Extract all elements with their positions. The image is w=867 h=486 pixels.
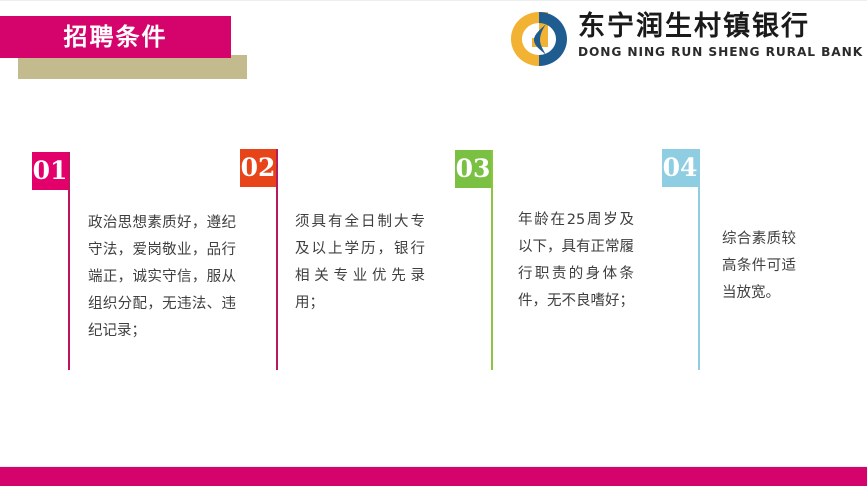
- condition-number-3: 03: [455, 150, 491, 188]
- bank-logo-mark: [508, 10, 570, 68]
- condition-text-2: 须具有全日制大专及以上学历，银行相关专业优先录用；: [295, 209, 425, 317]
- bank-logo-text: 东宁润生村镇银行 DONG NING RUN SHENG RURAL BANK: [578, 10, 828, 60]
- title-bar: 招聘条件: [0, 16, 231, 58]
- condition-number-2: 02: [240, 149, 276, 187]
- condition-badge-4: 04: [662, 149, 698, 187]
- bank-name-cn: 东宁润生村镇银行: [578, 10, 828, 44]
- top-divider: [0, 0, 867, 1]
- condition-text-4: 综合素质较高条件可适当放宽。: [722, 226, 796, 307]
- condition-badge-3: 03: [455, 150, 491, 188]
- condition-stem-1: [68, 152, 70, 370]
- bank-name-en: DONG NING RUN SHENG RURAL BANK: [578, 44, 828, 60]
- bottom-accent-bar: [0, 467, 867, 486]
- slide-canvas: 招聘条件 东宁润生村镇银行 DONG NING RUN SHENG RURAL …: [0, 0, 867, 486]
- bank-logo: 东宁润生村镇银行 DONG NING RUN SHENG RURAL BANK: [508, 8, 828, 70]
- condition-number-4: 04: [662, 149, 698, 187]
- condition-text-1: 政治思想素质好，遵纪守法，爱岗敬业，品行端正，诚实守信，服从组织分配，无违法、违…: [88, 210, 236, 345]
- condition-text-3: 年龄在25周岁及以下，具有正常履行职责的身体条件，无不良嗜好；: [518, 207, 634, 315]
- condition-number-1: 01: [32, 152, 68, 190]
- title-shadow-block: [18, 55, 247, 79]
- condition-stem-4: [698, 149, 700, 370]
- condition-stem-3: [491, 150, 493, 370]
- condition-badge-2: 02: [240, 149, 276, 187]
- condition-badge-1: 01: [32, 152, 68, 190]
- page-title: 招聘条件: [0, 16, 231, 58]
- condition-stem-2: [276, 149, 278, 370]
